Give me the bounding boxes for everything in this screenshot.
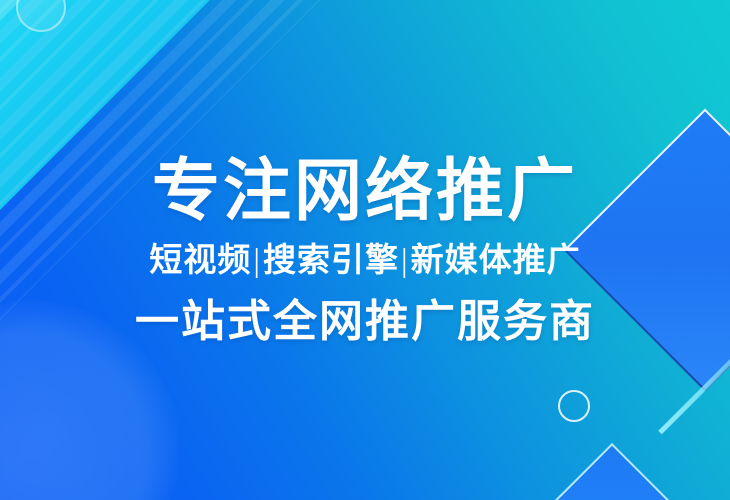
promo-banner: 专注网络推广 短视频|搜索引擎|新媒体推广 一站式全网推广服务商 bbox=[0, 0, 730, 500]
banner-subline: 短视频|搜索引擎|新媒体推广 bbox=[149, 245, 580, 278]
subline-part-2: 搜索引擎 bbox=[263, 243, 399, 279]
banner-tagline: 一站式全网推广服务商 bbox=[135, 300, 595, 344]
subline-separator-2: | bbox=[399, 243, 411, 279]
banner-text-block: 专注网络推广 短视频|搜索引擎|新媒体推广 一站式全网推广服务商 bbox=[0, 0, 730, 500]
banner-headline: 专注网络推广 bbox=[152, 157, 578, 225]
subline-part-1: 短视频 bbox=[149, 243, 251, 279]
subline-part-3: 新媒体推广 bbox=[411, 243, 581, 279]
subline-separator-1: | bbox=[251, 243, 263, 279]
